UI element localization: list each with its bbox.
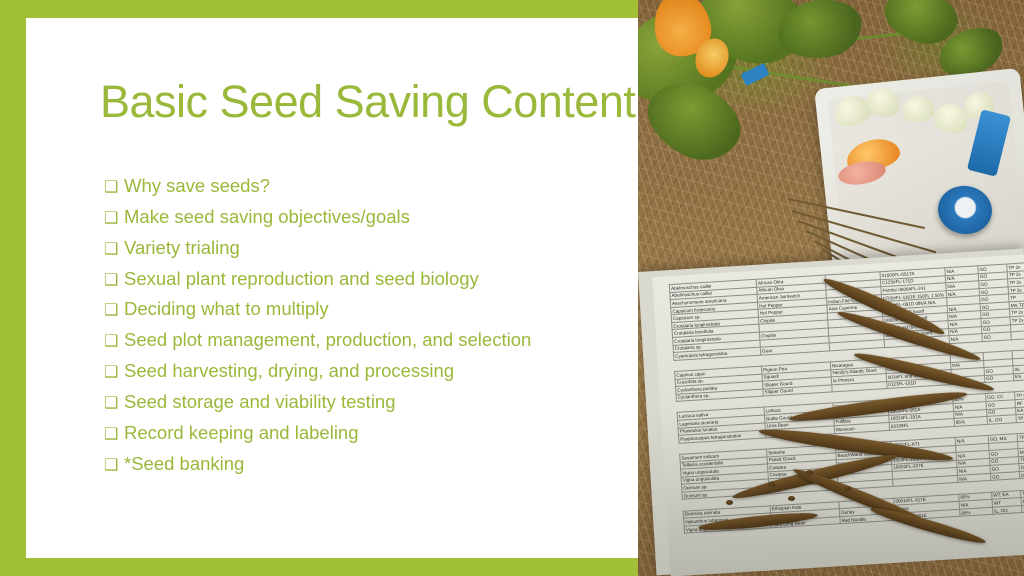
bullet-label: Make seed saving objectives/goals xyxy=(124,207,410,227)
table-cell: TP sluge xyxy=(1015,390,1024,400)
table-cell: IL, GO xyxy=(993,505,1022,514)
bullet-square-icon: ❑ xyxy=(104,180,124,196)
bullet-square-icon: ❑ xyxy=(104,427,124,443)
bullet-label: Why save seeds? xyxy=(124,176,270,196)
bullet-label: Deciding what to multiply xyxy=(124,299,329,319)
table-cell: 95% xyxy=(960,507,993,517)
bullet-label: Seed storage and viability testing xyxy=(124,392,396,412)
bullet-item: ❑Seed plot management, production, and s… xyxy=(104,330,634,350)
bullet-label: *Seed banking xyxy=(124,454,244,474)
slide: Abelmoschus cailleiAfrican Okra01000FL-0… xyxy=(0,0,1024,576)
bullet-list: ❑Why save seeds?❑Make seed saving object… xyxy=(104,176,634,484)
bullet-item: ❑Sexual plant reproduction and seed biol… xyxy=(104,269,634,289)
bullet-label: Record keeping and labeling xyxy=(124,423,359,443)
bullet-item: ❑Deciding what to multiply xyxy=(104,299,634,319)
loose-seed xyxy=(788,496,795,501)
table-cell: MS TP xyxy=(1018,446,1024,456)
bullet-label: Sexual plant reproduction and seed biolo… xyxy=(124,269,479,289)
bullet-square-icon: ❑ xyxy=(104,396,124,412)
bullet-square-icon: ❑ xyxy=(104,303,124,319)
table-cell: TP 2x xyxy=(1016,412,1024,422)
table-cell: TP xyxy=(1018,454,1024,464)
loose-seed xyxy=(844,486,851,491)
seed-saving-photo: Abelmoschus cailleiAfrican Okra01000FL-0… xyxy=(638,0,1024,576)
bullet-item: ❑Make seed saving objectives/goals xyxy=(104,207,634,227)
bullet-item: ❑Variety trialing xyxy=(104,238,634,258)
bullet-item: ❑*Seed banking xyxy=(104,454,634,474)
loose-seed xyxy=(768,482,775,487)
bullet-label: Seed harvesting, drying, and processing xyxy=(124,361,454,381)
bullet-item: ❑Why save seeds? xyxy=(104,176,634,196)
bullet-square-icon: ❑ xyxy=(104,365,124,381)
bullet-square-icon: ❑ xyxy=(104,242,124,258)
bullet-square-icon: ❑ xyxy=(104,273,124,289)
loose-seed xyxy=(806,470,813,475)
bullet-label: Variety trialing xyxy=(124,238,240,258)
table-cell xyxy=(1018,439,1024,449)
loose-seed xyxy=(726,500,733,505)
bullet-square-icon: ❑ xyxy=(104,334,124,350)
page-title: Basic Seed Saving Content xyxy=(100,76,660,128)
bullet-item: ❑Seed harvesting, drying, and processing xyxy=(104,361,634,381)
bullet-item: ❑Record keeping and labeling xyxy=(104,423,634,443)
table-cell: EA TP xyxy=(1015,405,1024,415)
bullet-item: ❑Seed storage and viability testing xyxy=(104,392,634,412)
bullet-square-icon: ❑ xyxy=(104,211,124,227)
bullet-square-icon: ❑ xyxy=(104,458,124,474)
table-cell: DS xyxy=(1019,461,1024,471)
bullet-label: Seed plot management, production, and se… xyxy=(124,330,531,350)
content-card: Basic Seed Saving Content ❑Why save seed… xyxy=(26,18,638,558)
table-cell: RF DS xyxy=(1015,397,1024,407)
table-cell: TP 2x xyxy=(1017,431,1024,441)
